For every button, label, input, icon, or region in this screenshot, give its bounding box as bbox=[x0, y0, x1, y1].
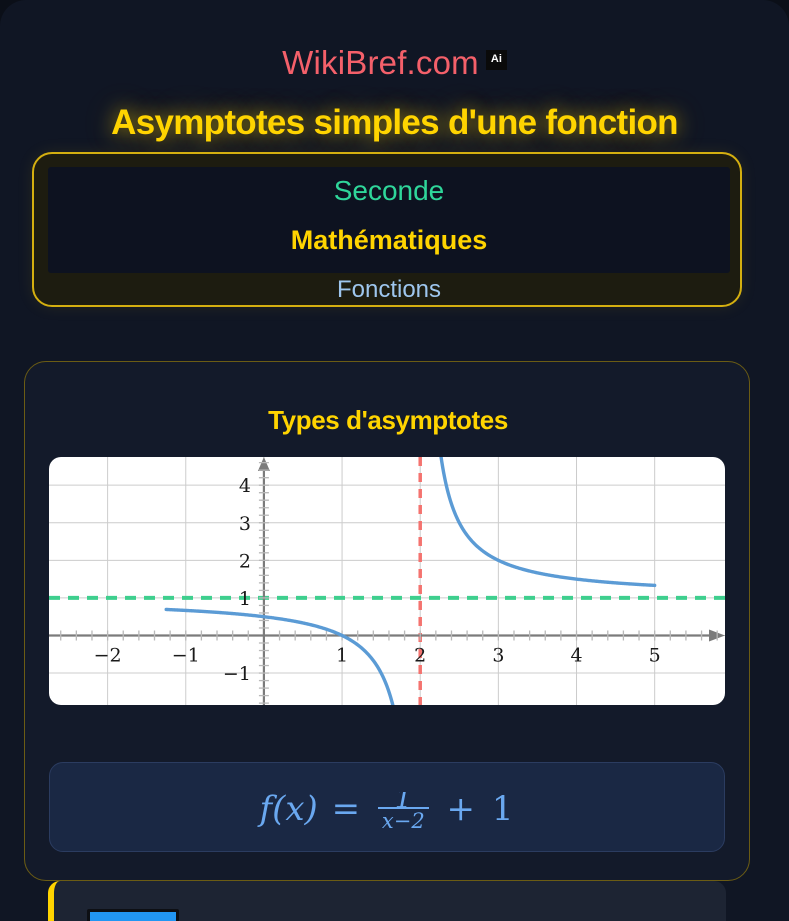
x-tick-label: 3 bbox=[492, 644, 504, 666]
function-graph: −2−112345−11234 bbox=[49, 457, 725, 705]
x-tick-label: −1 bbox=[172, 644, 200, 666]
brand-header: WikiBref.comAi bbox=[0, 44, 789, 82]
x-tick-label: 2 bbox=[414, 644, 426, 666]
y-tick-label: 2 bbox=[239, 550, 251, 572]
content-card-title: Types d'asymptotes bbox=[25, 405, 751, 436]
y-axis-arrow bbox=[258, 457, 270, 471]
function-curve-branch-right bbox=[435, 457, 654, 585]
subject-level: Seconde bbox=[34, 175, 744, 207]
x-tick-label: 1 bbox=[336, 644, 348, 666]
subject-topic: Fonctions bbox=[34, 276, 744, 304]
subject-matter: Mathématiques bbox=[34, 225, 744, 256]
brand-name[interactable]: WikiBref.com bbox=[282, 44, 479, 81]
formula-numerator: 1 bbox=[378, 792, 429, 809]
y-tick-label: −1 bbox=[223, 663, 251, 685]
page-root: WikiBref.comAi Asymptotes simples d'une … bbox=[0, 0, 789, 921]
page-title: Asymptotes simples d'une fonction bbox=[0, 103, 789, 143]
graph-svg: −2−112345−11234 bbox=[49, 457, 725, 705]
formula-equals: = bbox=[329, 789, 364, 829]
formula-box: f(x) = 1 x−2 + 1 bbox=[49, 762, 725, 852]
y-tick-label: 4 bbox=[239, 475, 251, 497]
subject-card: Seconde Mathématiques Fonctions bbox=[32, 152, 742, 307]
formula-plus: + bbox=[444, 789, 479, 829]
formula-denominator: x−2 bbox=[378, 809, 429, 833]
formula-lhs: f(x) bbox=[260, 789, 318, 829]
y-tick-label: 3 bbox=[239, 513, 251, 535]
function-curve-branch-left bbox=[166, 609, 401, 705]
formula-constant: 1 bbox=[489, 789, 517, 829]
x-tick-label: −2 bbox=[94, 644, 122, 666]
ai-badge: Ai bbox=[486, 50, 507, 70]
content-card: Types d'asymptotes −2−112345−11234 f(x) … bbox=[24, 361, 750, 881]
x-tick-label: 5 bbox=[649, 644, 661, 666]
y-tick-label: 1 bbox=[239, 588, 251, 610]
section-color-chip bbox=[87, 909, 179, 921]
x-tick-label: 4 bbox=[570, 644, 582, 666]
function-formula: f(x) = 1 x−2 + 1 bbox=[50, 792, 725, 833]
formula-fraction: 1 x−2 bbox=[378, 792, 429, 833]
next-section-card[interactable] bbox=[48, 881, 726, 921]
